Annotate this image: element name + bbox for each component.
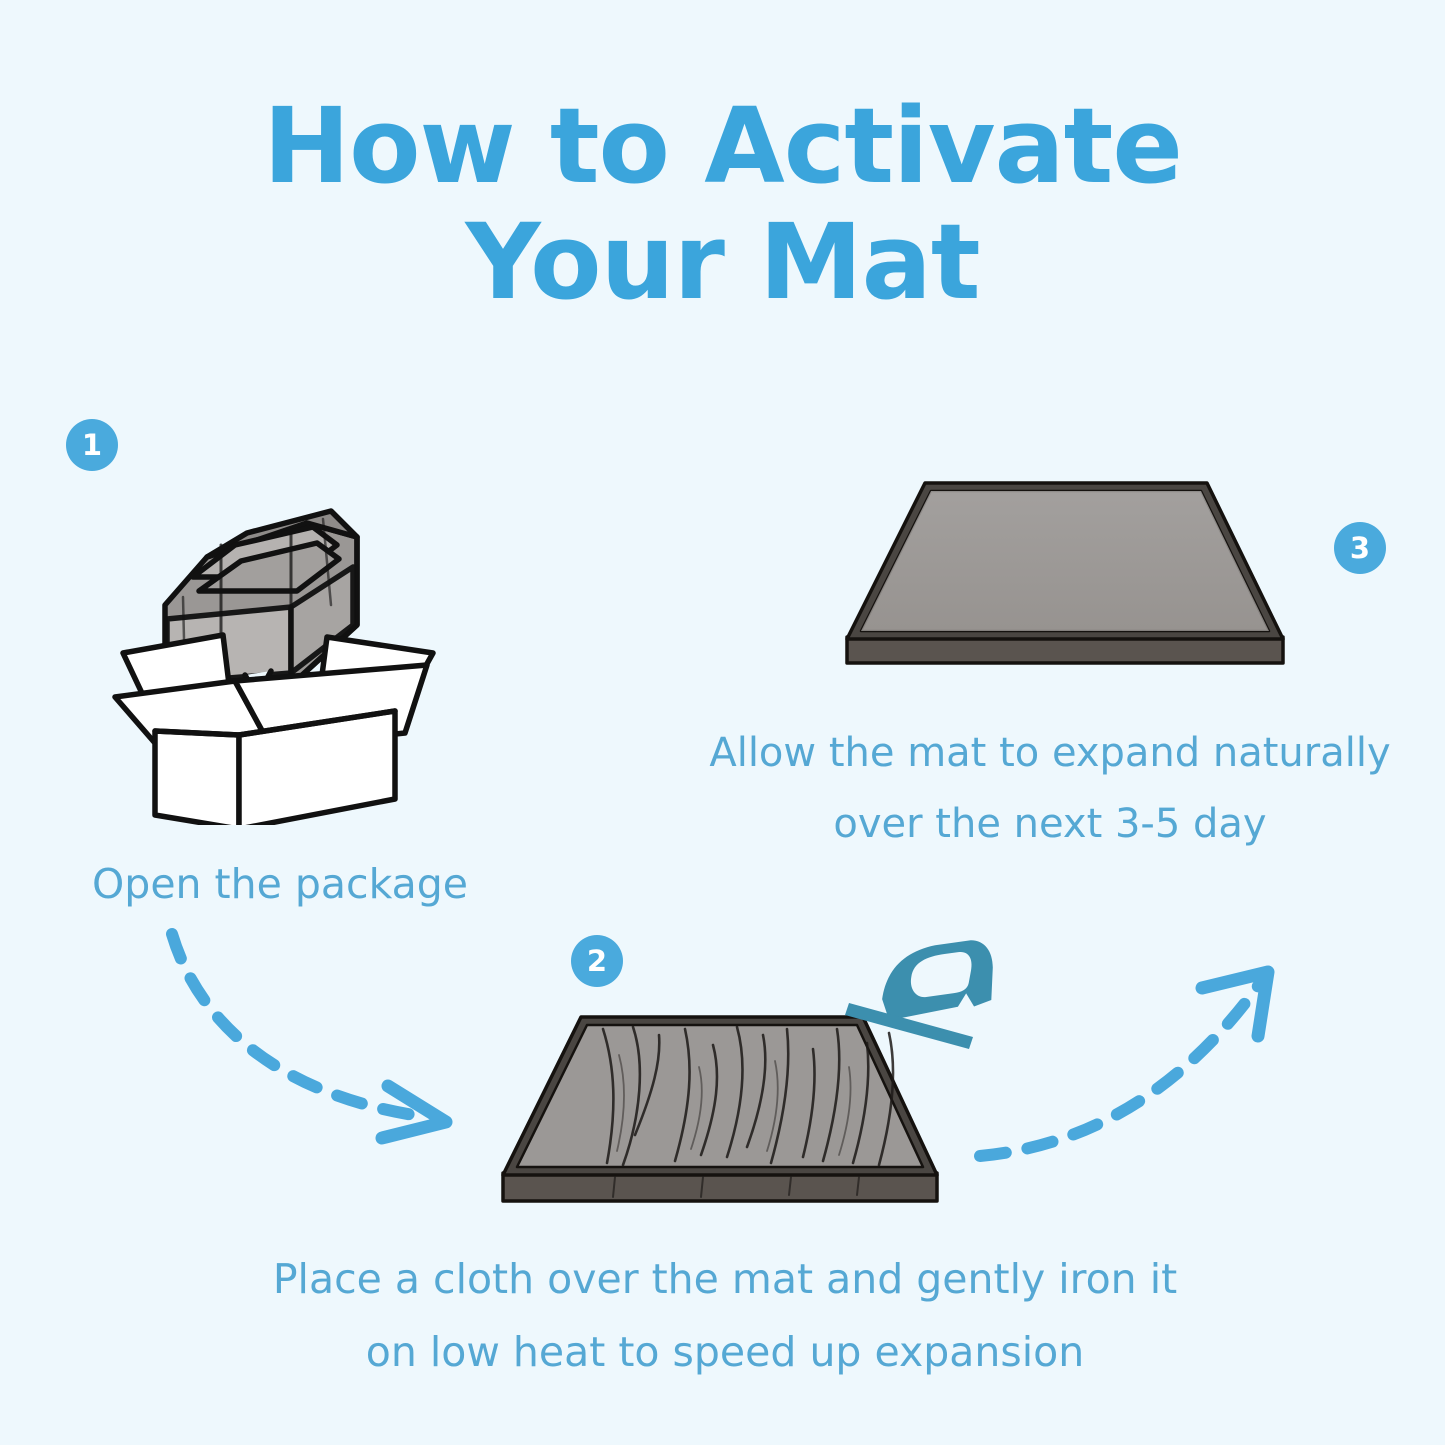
step-badge-1: 1 [66,419,118,471]
step-badge-3: 3 [1334,522,1386,574]
page-title-line-1: How to Activate [0,88,1445,204]
arrow-step1-to-step2-icon [160,920,500,1160]
step-1-caption: Open the package [40,848,520,921]
page-title: How to Activate Your Mat [0,88,1445,321]
flat-mat-icon [825,465,1305,690]
infographic-canvas: How to Activate Your Mat 1 [0,0,1445,1445]
open-box-icon [95,485,455,825]
arrow-step2-to-step3-icon [970,950,1300,1190]
step-badge-2: 2 [571,935,623,987]
step-2-caption: Place a cloth over the mat and gently ir… [250,1243,1200,1389]
page-title-line-2: Your Mat [0,204,1445,320]
step-3-caption: Allow the mat to expand naturally over t… [660,718,1440,860]
